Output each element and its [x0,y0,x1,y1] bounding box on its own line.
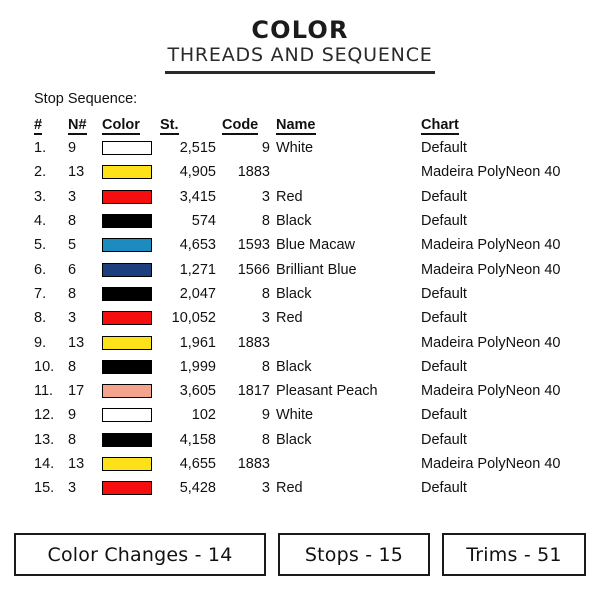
cell-code: 3 [222,185,276,209]
cell-name: Black [276,355,421,379]
table-header: # N# Color St. Code Name Chart [34,117,579,136]
cell-needle: 3 [68,306,102,330]
cell-stitches: 4,655 [160,452,222,476]
stop-sequence-label: Stop Sequence: [34,91,137,107]
table-row: 15.35,4283RedDefault [34,476,579,500]
cell-needle: 9 [68,136,102,160]
cell-code: 9 [222,403,276,427]
cell-name [276,160,421,184]
cell-name: Blue Macaw [276,233,421,257]
cell-stitches: 1,961 [160,330,222,354]
cell-code: 9 [222,136,276,160]
cell-chart: Madeira PolyNeon 40 [421,452,579,476]
cell-chart: Default [421,428,579,452]
cell-needle: 8 [68,428,102,452]
cell-color [102,330,160,354]
cell-index: 8. [34,306,68,330]
column-header-code: Code [222,117,276,136]
cell-index: 9. [34,330,68,354]
cell-stitches: 1,271 [160,257,222,281]
table-row: 2.134,9051883Madeira PolyNeon 40 [34,160,579,184]
cell-index: 4. [34,209,68,233]
cell-code: 1593 [222,233,276,257]
cell-color [102,185,160,209]
color-swatch [102,384,152,398]
summary-label: Stops - 15 [305,544,403,566]
table-row: 10.81,9998BlackDefault [34,355,579,379]
cell-stitches: 102 [160,403,222,427]
cell-index: 7. [34,282,68,306]
cell-stitches: 1,999 [160,355,222,379]
cell-color [102,282,160,306]
table-row: 12.91029WhiteDefault [34,403,579,427]
cell-code: 8 [222,355,276,379]
table-row: 4.85748BlackDefault [34,209,579,233]
cell-name: Brilliant Blue [276,257,421,281]
cell-code: 8 [222,282,276,306]
color-swatch [102,360,152,374]
cell-color [102,136,160,160]
page-subtitle-underline: THREADS AND SEQUENCE [165,46,434,74]
cell-color [102,428,160,452]
cell-stitches: 3,415 [160,185,222,209]
cell-chart: Madeira PolyNeon 40 [421,330,579,354]
cell-index: 10. [34,355,68,379]
cell-code: 1883 [222,330,276,354]
cell-stitches: 2,047 [160,282,222,306]
column-header-color: Color [102,117,160,136]
cell-color [102,403,160,427]
cell-name: Pleasant Peach [276,379,421,403]
cell-needle: 6 [68,257,102,281]
table-row: 9.131,9611883Madeira PolyNeon 40 [34,330,579,354]
color-swatch [102,287,152,301]
color-swatch [102,141,152,155]
cell-name [276,452,421,476]
color-swatch [102,190,152,204]
color-swatch [102,433,152,447]
color-swatch [102,336,152,350]
cell-color [102,160,160,184]
cell-stitches: 574 [160,209,222,233]
table-row: 5.54,6531593Blue MacawMadeira PolyNeon 4… [34,233,579,257]
cell-index: 13. [34,428,68,452]
column-header-index: # [34,117,68,136]
summary-label: Trims - 51 [466,544,561,566]
cell-stitches: 4,905 [160,160,222,184]
cell-stitches: 3,605 [160,379,222,403]
cell-chart: Madeira PolyNeon 40 [421,379,579,403]
title-block: COLOR THREADS AND SEQUENCE [0,0,600,74]
color-swatch [102,481,152,495]
table-row: 3.33,4153RedDefault [34,185,579,209]
summary-box: Trims - 51 [442,533,586,576]
table-row: 8.310,0523RedDefault [34,306,579,330]
cell-name: Black [276,282,421,306]
cell-name: Black [276,209,421,233]
column-header-chart: Chart [421,117,579,136]
cell-needle: 9 [68,403,102,427]
cell-color [102,209,160,233]
cell-index: 12. [34,403,68,427]
cell-code: 8 [222,428,276,452]
cell-stitches: 4,158 [160,428,222,452]
page-subtitle: THREADS AND SEQUENCE [167,46,432,66]
page-title: COLOR [0,18,600,43]
cell-name: Red [276,476,421,500]
cell-chart: Default [421,403,579,427]
table-header-row: # N# Color St. Code Name Chart [34,117,579,136]
summary-row: Color Changes - 14Stops - 15Trims - 51 [14,533,586,576]
cell-stitches: 2,515 [160,136,222,160]
cell-code: 8 [222,209,276,233]
cell-chart: Default [421,282,579,306]
cell-color [102,257,160,281]
cell-needle: 3 [68,185,102,209]
cell-stitches: 5,428 [160,476,222,500]
summary-box: Color Changes - 14 [14,533,266,576]
cell-name [276,330,421,354]
table-body: 1.92,5159WhiteDefault2.134,9051883Madeir… [34,136,579,500]
cell-name: White [276,136,421,160]
cell-needle: 8 [68,209,102,233]
table-row: 6.61,2711566Brilliant BlueMadeira PolyNe… [34,257,579,281]
cell-name: White [276,403,421,427]
cell-stitches: 10,052 [160,306,222,330]
table-row: 7.82,0478BlackDefault [34,282,579,306]
cell-color [102,476,160,500]
cell-chart: Default [421,476,579,500]
cell-color [102,355,160,379]
cell-code: 1566 [222,257,276,281]
color-swatch [102,457,152,471]
cell-needle: 5 [68,233,102,257]
cell-needle: 8 [68,282,102,306]
cell-chart: Default [421,185,579,209]
cell-code: 3 [222,306,276,330]
cell-index: 6. [34,257,68,281]
cell-index: 5. [34,233,68,257]
cell-name: Red [276,185,421,209]
cell-index: 11. [34,379,68,403]
cell-needle: 13 [68,452,102,476]
color-swatch [102,408,152,422]
cell-name: Black [276,428,421,452]
column-header-name: Name [276,117,421,136]
cell-color [102,379,160,403]
cell-needle: 3 [68,476,102,500]
summary-label: Color Changes - 14 [48,544,233,566]
cell-stitches: 4,653 [160,233,222,257]
cell-index: 3. [34,185,68,209]
column-header-stitches: St. [160,117,222,136]
summary-box: Stops - 15 [278,533,430,576]
cell-name: Red [276,306,421,330]
table-row: 11.173,6051817Pleasant PeachMadeira Poly… [34,379,579,403]
cell-chart: Madeira PolyNeon 40 [421,257,579,281]
table-row: 14.134,6551883Madeira PolyNeon 40 [34,452,579,476]
color-swatch [102,311,152,325]
cell-chart: Madeira PolyNeon 40 [421,160,579,184]
cell-chart: Default [421,209,579,233]
cell-color [102,306,160,330]
cell-chart: Default [421,136,579,160]
cell-code: 1817 [222,379,276,403]
stop-sequence-table: # N# Color St. Code Name Chart 1.92,5159… [34,117,579,500]
cell-chart: Default [421,306,579,330]
cell-index: 2. [34,160,68,184]
cell-needle: 13 [68,330,102,354]
cell-color [102,233,160,257]
cell-needle: 8 [68,355,102,379]
cell-chart: Madeira PolyNeon 40 [421,233,579,257]
cell-index: 14. [34,452,68,476]
cell-chart: Default [421,355,579,379]
color-swatch [102,238,152,252]
cell-index: 1. [34,136,68,160]
cell-needle: 13 [68,160,102,184]
cell-code: 1883 [222,452,276,476]
cell-index: 15. [34,476,68,500]
cell-color [102,452,160,476]
table-row: 1.92,5159WhiteDefault [34,136,579,160]
table-row: 13.84,1588BlackDefault [34,428,579,452]
cell-needle: 17 [68,379,102,403]
column-header-needle: N# [68,117,102,136]
cell-code: 3 [222,476,276,500]
cell-code: 1883 [222,160,276,184]
color-swatch [102,165,152,179]
color-swatch [102,263,152,277]
color-swatch [102,214,152,228]
